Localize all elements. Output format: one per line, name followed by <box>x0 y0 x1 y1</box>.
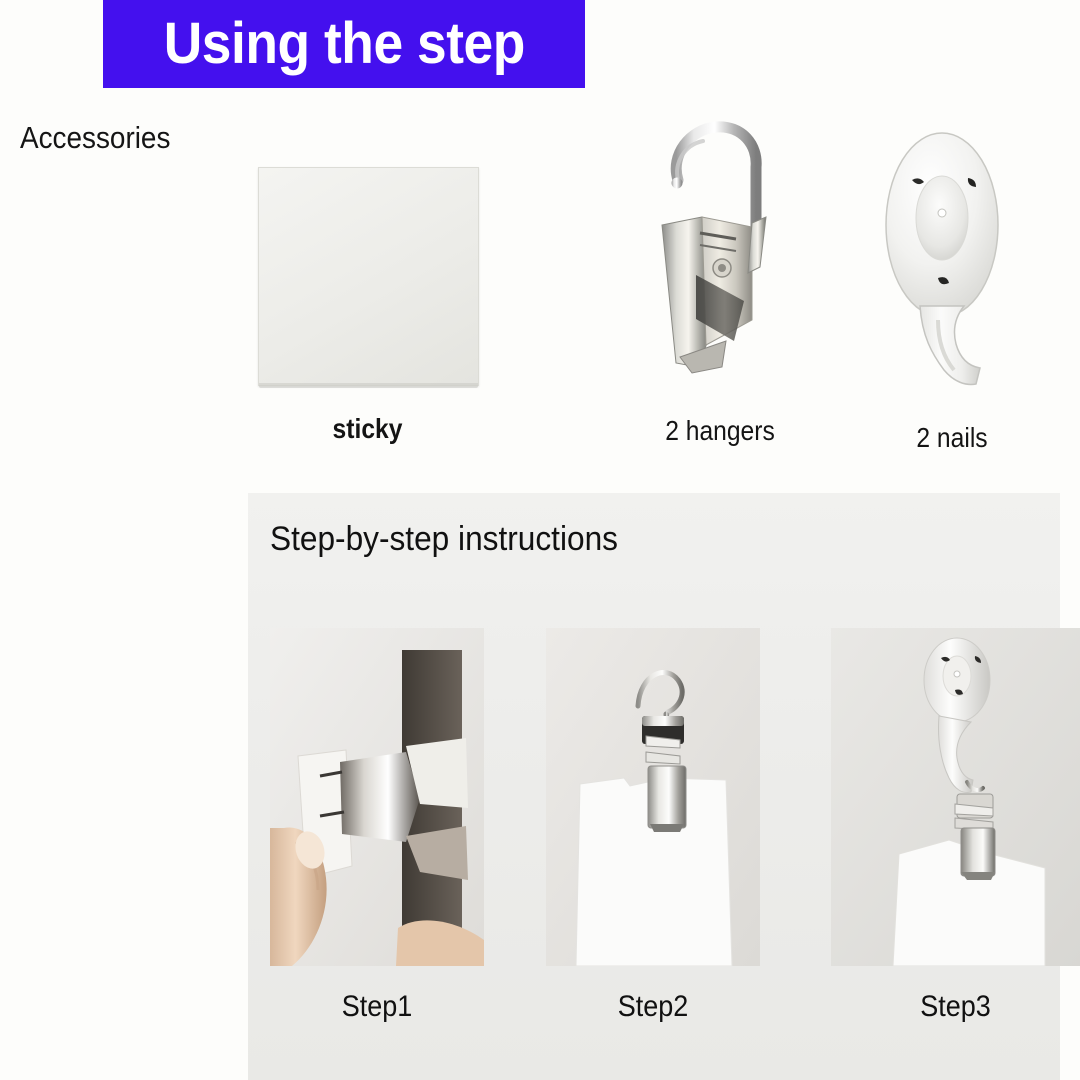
step-label-2: Step2 <box>557 990 750 1024</box>
step-image-gallery <box>270 628 1060 966</box>
title-banner: Using the step <box>103 0 585 88</box>
adhesive-pad-icon <box>258 167 479 386</box>
step-image-1 <box>270 628 484 966</box>
page-title: Using the step <box>163 15 524 73</box>
wall-hook-icon <box>880 130 1015 392</box>
step-label-3: Step3 <box>843 990 1067 1024</box>
accessory-label-nails: 2 nails <box>873 422 1031 454</box>
step-image-3 <box>831 628 1080 966</box>
step-label-1: Step1 <box>281 990 474 1024</box>
hook-clip-icon <box>640 105 790 390</box>
accessories-heading: Accessories <box>20 120 170 156</box>
step-image-2 <box>546 628 760 966</box>
instructions-panel: Step-by-step instructions <box>248 493 1060 1080</box>
accessory-label-sticky: sticky <box>271 413 464 445</box>
accessory-label-hangers: 2 hangers <box>632 415 808 447</box>
instructions-heading: Step-by-step instructions <box>270 520 618 559</box>
